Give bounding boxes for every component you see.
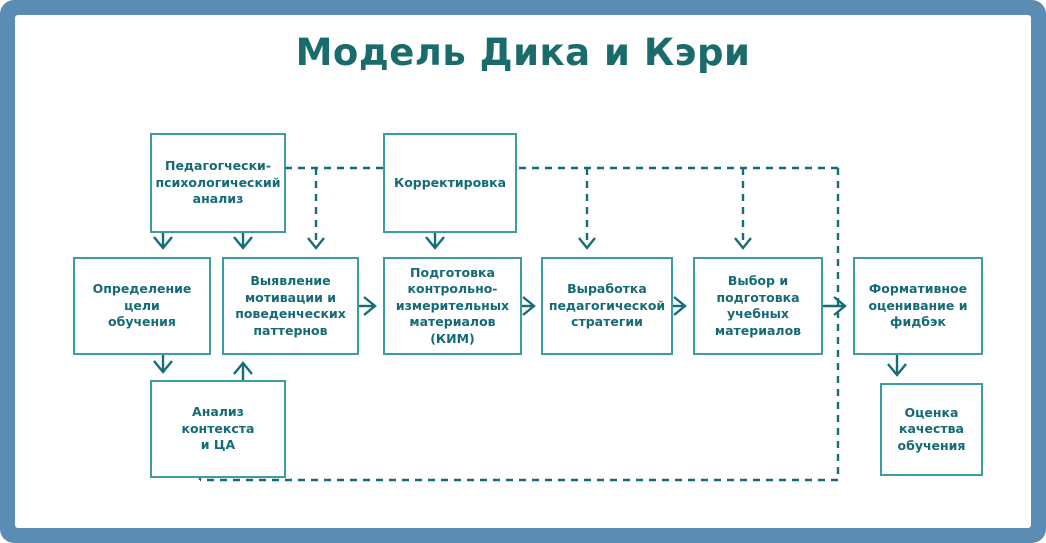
node-formative-label: Формативноеоценивание ифидбэк: [868, 281, 967, 331]
node-context[interactable]: Анализконтекстаи ЦА: [150, 380, 286, 478]
node-ped-psych-label: Педагогчески-психологическийанализ: [156, 158, 281, 208]
diagram-frame: Модель Дика и Кэри: [0, 0, 1046, 543]
node-quality[interactable]: Оценкакачестваобучения: [880, 383, 983, 476]
node-kim-label: Подготовкаконтрольно-измерительныхматери…: [389, 265, 516, 348]
diagram-canvas: Модель Дика и Кэри: [15, 15, 1031, 528]
node-goal[interactable]: Определениецелиобучения: [73, 257, 211, 355]
node-quality-label: Оценкакачестваобучения: [898, 405, 966, 455]
node-materials-label: Выбор иподготовкаучебныхматериалов: [715, 273, 801, 339]
node-kim[interactable]: Подготовкаконтрольно-измерительныхматери…: [383, 257, 522, 355]
node-context-label: Анализконтекстаи ЦА: [181, 404, 254, 454]
node-correction[interactable]: Корректировка: [383, 133, 517, 233]
node-motivation-label: Выявлениемотивации иповеденческихпаттерн…: [235, 273, 346, 339]
node-strategy[interactable]: Выработкапедагогическойстратегии: [541, 257, 673, 355]
node-correction-label: Корректировка: [394, 175, 506, 192]
node-goal-label: Определениецелиобучения: [93, 281, 192, 331]
node-formative[interactable]: Формативноеоценивание ифидбэк: [853, 257, 983, 355]
node-strategy-label: Выработкапедагогическойстратегии: [549, 281, 665, 331]
node-motivation[interactable]: Выявлениемотивации иповеденческихпаттерн…: [222, 257, 359, 355]
node-ped-psych[interactable]: Педагогчески-психологическийанализ: [150, 133, 286, 233]
node-materials[interactable]: Выбор иподготовкаучебныхматериалов: [693, 257, 823, 355]
